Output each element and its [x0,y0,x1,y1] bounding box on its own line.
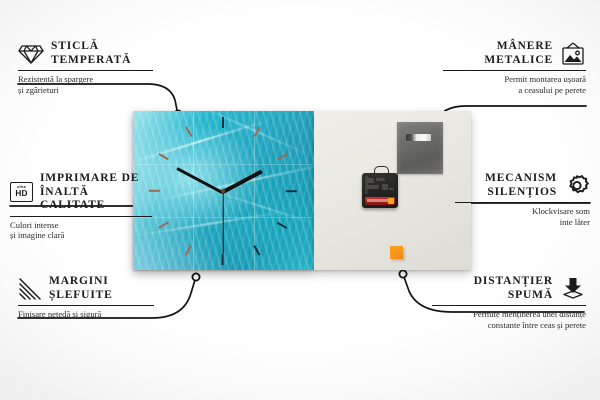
feature-subtitle: Permite menținerea unei distanțe constan… [432,309,586,330]
feature-subtitle: Permit montarea ușoară a ceasului pe per… [443,74,586,95]
feature-subtitle: Finisare netedă și sigură [18,309,154,320]
feature-title: IMPRIMARE DE ÎNALTĂ CALITATE [40,172,152,213]
feature-high-quality-print: ultra HD IMPRIMARE DE ÎNALTĂ CALITATE Cu… [10,172,152,241]
feature-subtitle: Rezistentă la spargere și zgârieturi [18,74,153,95]
feature-silent-mechanism: MECANISM SILENȚIOS Klockvisare som inte … [455,172,590,227]
endpoint-dot-foam-spacer [399,270,406,277]
diamond-icon [18,43,44,65]
diagonal-lines-icon [18,278,42,300]
feature-title: DISTANȚIER SPUMĂ [474,275,553,302]
feature-rule [10,216,152,217]
ultra-hd-badge-icon: ultra HD [10,182,33,202]
down-arrow-stack-icon [560,277,586,301]
metal-hanger-plate [397,122,443,174]
mechanism-hanger-loop [374,166,389,176]
feature-subtitle: Culori intense și imagine clară [10,220,152,241]
hanger-slot [406,134,431,141]
feature-rule [18,305,154,306]
mechanism-face [365,176,395,194]
feature-foam-spacer: DISTANȚIER SPUMĂ Permite menținerea unei… [432,275,586,330]
clock-hour-hand [222,170,263,194]
feature-metal-handles: MÂNERE METALICE Permit montarea ușoară a… [443,40,586,95]
clock-back-panel [314,111,471,270]
foam-spacer-pad [390,246,403,259]
clock-face-panel [133,111,314,270]
feature-rule [455,202,590,203]
feature-tempered-glass: STICLĂ TEMPERATĂ Rezistentă la spargere … [18,40,153,95]
feature-subtitle: Klockvisare som inte låter [455,206,590,227]
endpoint-dot-polished-edges [192,273,199,280]
feature-polished-edges: MARGINI ȘLEFUITE Finisare netedă și sigu… [18,275,154,320]
clock-second-hand [222,192,223,254]
clock-mechanism-box [362,173,398,208]
clock-battery [365,197,395,205]
gear-icon [564,174,590,198]
infographic-canvas: STICLĂ TEMPERATĂ Rezistentă la spargere … [0,0,600,400]
feature-rule [443,70,586,71]
feature-title: MÂNERE METALICE [484,40,553,67]
feature-rule [432,305,586,306]
feature-title: MARGINI ȘLEFUITE [49,275,113,302]
feature-rule [18,70,153,71]
feature-title: MECANISM SILENȚIOS [485,172,557,199]
wall-mount-frame-icon [560,42,586,66]
feature-title: STICLĂ TEMPERATĂ [51,40,131,67]
ultra-hd-badge-main-text: HD [15,190,27,198]
clock-center-pin [221,189,225,193]
